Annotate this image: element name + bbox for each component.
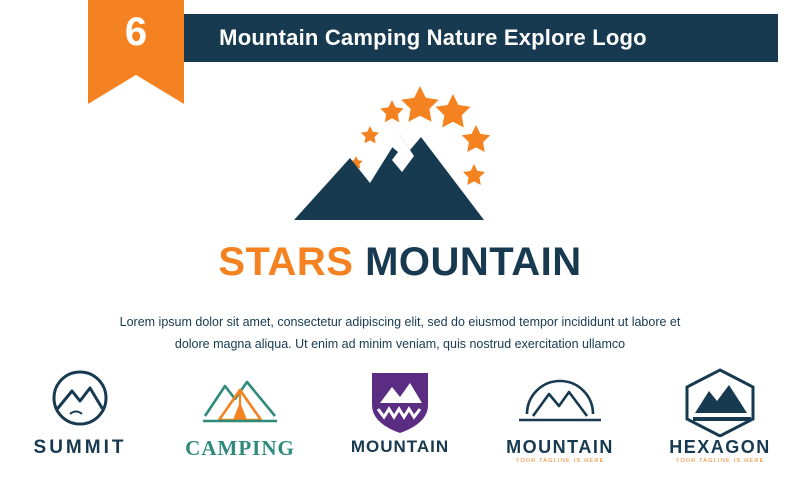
main-logo-word-1: STARS xyxy=(218,240,353,284)
logo-name: HEXAGON xyxy=(669,438,771,456)
main-logo-wordmark: STARS MOUNTAIN xyxy=(0,240,800,285)
main-logo: STARS MOUNTAIN xyxy=(0,72,800,312)
logo-variant-summit: SUMMIT xyxy=(0,368,160,488)
logo-variant-mountain-shield: MOUNTAIN xyxy=(320,368,480,488)
logo-name: MOUNTAIN xyxy=(506,438,614,456)
logo-tagline: YOUR TAGLINE IS HERE xyxy=(515,459,604,465)
tagline-line-2: dolore magna aliqua. Ut enim ad minim ve… xyxy=(100,334,700,356)
main-logo-word-2: MOUNTAIN xyxy=(365,240,582,284)
mountain-stars-icon xyxy=(288,80,512,240)
sun-mountain-line-icon xyxy=(505,368,615,436)
hexagon-mountain-icon xyxy=(677,368,763,436)
logo-variant-mountain-sun: MOUNTAIN YOUR TAGLINE IS HERE xyxy=(480,368,640,488)
shield-mountain-icon xyxy=(360,368,440,436)
ribbon-number: 6 xyxy=(125,12,147,52)
logo-name: CAMPING xyxy=(185,438,295,459)
logo-variant-camping: CAMPING xyxy=(160,368,320,488)
page-title: Mountain Camping Nature Explore Logo xyxy=(219,25,647,51)
circle-mountain-outline-icon xyxy=(40,368,120,436)
tagline-block: Lorem ipsum dolor sit amet, consectetur … xyxy=(100,312,700,356)
tent-mountain-icon xyxy=(195,368,285,436)
logo-name: SUMMIT xyxy=(34,438,127,457)
header-bar: Mountain Camping Nature Explore Logo xyxy=(88,14,778,62)
logo-tagline: YOUR TAGLINE IS HERE xyxy=(675,459,764,465)
logo-variant-hexagon: HEXAGON YOUR TAGLINE IS HERE xyxy=(640,368,800,488)
logo-variant-row: SUMMIT CAMPING MOUNTAIN xyxy=(0,368,800,488)
logo-name: MOUNTAIN xyxy=(351,438,449,455)
tagline-line-1: Lorem ipsum dolor sit amet, consectetur … xyxy=(100,312,700,334)
